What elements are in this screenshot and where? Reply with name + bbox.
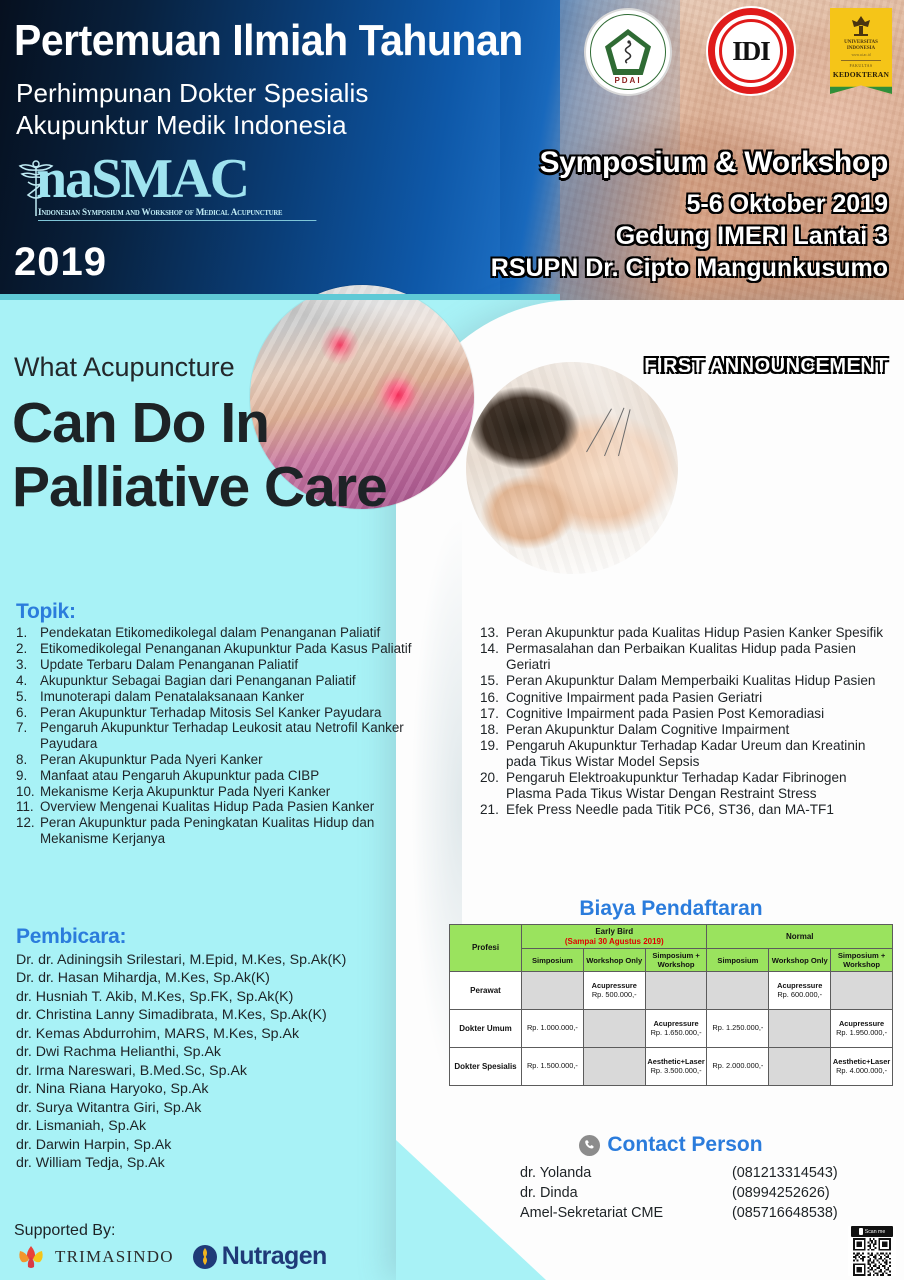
qr-label-text: Scan me (865, 1229, 885, 1235)
topic-item: 6.Peran Akupunktur Terhadap Mitosis Sel … (16, 705, 416, 720)
topic-text: Peran Akupunktur pada Kualitas Hidup Pas… (506, 625, 890, 641)
topic-text: Peran Akupunktur pada Peningkatan Kualit… (40, 815, 416, 846)
fees-sub-eb-simposium: Simposium (522, 949, 584, 972)
fees-table-head: Profesi Early Bird (Sampai 30 Agustus 20… (450, 925, 893, 972)
early-bird-note: (Sampai 30 Agustus 2019) (565, 937, 664, 946)
page-title: Pertemuan Ilmiah Tahunan (14, 16, 523, 66)
topic-item: 16.Cognitive Impairment pada Pasien Geri… (480, 690, 890, 706)
topics-column-1: Topik: 1.Pendekatan Etikomedikolegal dal… (16, 600, 416, 847)
organization-line-1: Perhimpunan Dokter Spesialis (16, 78, 369, 110)
nasmac-wordmark: naSMAC (36, 151, 248, 207)
topic-item: 8.Peran Akupunktur Pada Nyeri Kanker (16, 752, 416, 767)
topic-item: 9.Manfaat atau Pengaruh Akupunktur pada … (16, 768, 416, 783)
trimasindo-wordmark: TRIMASINDO (55, 1247, 174, 1267)
ui-url: www.ui.ac.id (851, 53, 870, 57)
topic-item: 12.Peran Akupunktur pada Peningkatan Kua… (16, 815, 416, 846)
theme-kicker: What Acupuncture (14, 352, 235, 383)
topic-number: 3. (16, 657, 40, 672)
topic-number: 17. (480, 706, 506, 722)
pdai-pentagon-inner (611, 35, 645, 69)
contact-phone[interactable]: (085716648538) (732, 1203, 838, 1223)
fees-cell (831, 972, 893, 1010)
topic-item: 11.Overview Mengenai Kualitas Hidup Pada… (16, 799, 416, 814)
pdai-logo: PDAI (584, 8, 672, 96)
fees-cell (707, 972, 769, 1010)
topic-number: 12. (16, 815, 40, 846)
speaker-item: Dr. dr. Adiningsih Srilestari, M.Epid, M… (16, 951, 416, 969)
qr-code-icon (852, 1238, 892, 1276)
fees-cell: Aesthetic+LaserRp. 3.500.000,- (645, 1048, 707, 1086)
theme-title-line2: Palliative Care (12, 456, 387, 520)
topic-text: Pengaruh Elektroakupunktur Terhadap Kada… (506, 770, 890, 802)
fees-cell: AcupressureRp. 1.650.000,- (645, 1010, 707, 1048)
early-bird-label: Early Bird (595, 927, 633, 936)
mobile-icon (859, 1228, 863, 1235)
speaker-item: dr. Irma Nareswari, B.Med.Sc, Sp.Ak (16, 1062, 416, 1080)
fees-col-normal: Normal (707, 925, 893, 949)
topic-text: Pendekatan Etikomedikolegal dalam Penang… (40, 625, 416, 640)
organization-line-2: Akupunktur Medik Indonesia (16, 110, 369, 142)
fees-sub-n-simposium: Simposium (707, 949, 769, 972)
fees-cell (583, 1048, 645, 1086)
topic-number: 16. (480, 690, 506, 706)
nasmac-tagline: Indonesian Symposium and Workshop of Med… (38, 208, 316, 221)
topic-item: 13.Peran Akupunktur pada Kualitas Hidup … (480, 625, 890, 641)
speaker-item: dr. Darwin Harpin, Sp.Ak (16, 1136, 416, 1154)
fees-cell (522, 972, 584, 1010)
fees-cell: Aesthetic+LaserRp. 4.000.000,- (831, 1048, 893, 1086)
topics-list-1: 1.Pendekatan Etikomedikolegal dalam Pena… (16, 625, 416, 846)
topic-item: 21.Efek Press Needle pada Titik PC6, ST3… (480, 802, 890, 818)
fees-title: Biaya Pendaftaran (446, 897, 896, 921)
speaker-item: dr. William Tedja, Sp.Ak (16, 1154, 416, 1172)
lotus-icon (14, 1243, 48, 1271)
facial-acupuncture-photo (466, 362, 678, 574)
topic-item: 19.Pengaruh Akupunktur Terhadap Kadar Ur… (480, 738, 890, 770)
topic-number: 10. (16, 784, 40, 799)
contact-name: dr. Yolanda (520, 1163, 732, 1183)
topic-text: Pengaruh Akupunktur Terhadap Kadar Ureum… (506, 738, 890, 770)
table-row: Dokter UmumRp. 1.000.000,-AcupressureRp.… (450, 1010, 893, 1048)
idi-abbr: IDI (732, 36, 770, 67)
fees-cell: Rp. 1.250.000,- (707, 1010, 769, 1048)
contact-list: dr. Yolanda(081213314543)dr. Dinda(08994… (520, 1163, 838, 1223)
topic-number: 11. (16, 799, 40, 814)
pdai-snake-icon (621, 40, 635, 64)
speakers-heading: Pembicara: (16, 925, 416, 949)
topic-text: Overview Mengenai Kualitas Hidup Pada Pa… (40, 799, 416, 814)
topic-text: Cognitive Impairment pada Pasien Geriatr… (506, 690, 890, 706)
topic-text: Efek Press Needle pada Titik PC6, ST36, … (506, 802, 890, 818)
topic-item: 18.Peran Akupunktur Dalam Cognitive Impa… (480, 722, 890, 738)
fees-cell: AcupressureRp. 1.950.000,- (831, 1010, 893, 1048)
topics-list-2: 13.Peran Akupunktur pada Kualitas Hidup … (480, 625, 890, 818)
fees-profession-cell: Perawat (450, 972, 522, 1010)
speaker-item: dr. Kemas Abdurrohim, MARS, M.Kes, Sp.Ak (16, 1025, 416, 1043)
fees-cell-note: Perawat (451, 986, 520, 996)
event-venue-line1: Gedung IMERI Lantai 3 (491, 220, 888, 252)
fees-cell-amount: Rp. 1.650.000,- (647, 1029, 706, 1038)
fees-cell-amount: Rp. 1.250.000,- (708, 1024, 767, 1033)
topic-item: 7.Pengaruh Akupunktur Terhadap Leukosit … (16, 720, 416, 751)
topic-number: 5. (16, 689, 40, 704)
first-announcement-badge: FIRST ANNOUNCEMENT (644, 355, 888, 378)
contact-row: dr. Dinda(08994252626) (520, 1183, 838, 1203)
topic-item: 14.Permasalahan dan Perbaikan Kualitas H… (480, 641, 890, 673)
fees-cell-note: Dokter Umum (451, 1024, 520, 1034)
contact-phone[interactable]: (08994252626) (732, 1183, 830, 1203)
poster-root: Pertemuan Ilmiah Tahunan Perhimpunan Dok… (0, 0, 904, 1280)
fees-cell: AcupressureRp. 600.000,- (769, 972, 831, 1010)
topic-item: 15.Peran Akupunktur Dalam Memperbaiki Ku… (480, 673, 890, 689)
idi-logo: IDI (708, 8, 794, 94)
trimasindo-logo: TRIMASINDO (14, 1243, 174, 1271)
topic-text: Peran Akupunktur Dalam Memperbaiki Kuali… (506, 673, 890, 689)
fees-cell (583, 1010, 645, 1048)
fees-cell-amount: Rp. 1.500.000,- (523, 1062, 582, 1071)
event-date: 5-6 Oktober 2019 (491, 188, 888, 220)
topic-text: Permasalahan dan Perbaikan Kualitas Hidu… (506, 641, 890, 673)
speaker-item: dr. Lismaniah, Sp.Ak (16, 1117, 416, 1135)
fees-cell-amount: Rp. 1.950.000,- (832, 1029, 891, 1038)
pdai-abbr: PDAI (586, 76, 670, 85)
speaker-item: Dr. dr. Hasan Mihardja, M.Kes, Sp.Ak(K) (16, 969, 416, 987)
topic-text: Peran Akupunktur Dalam Cognitive Impairm… (506, 722, 890, 738)
fees-header-row-1: Profesi Early Bird (Sampai 30 Agustus 20… (450, 925, 893, 949)
nutragen-wordmark: Nutragen (222, 1242, 327, 1271)
fees-cell-amount: Rp. 4.000.000,- (832, 1067, 891, 1076)
topic-text: Peran Akupunktur Terhadap Mitosis Sel Ka… (40, 705, 416, 720)
fees-cell-note: Dokter Spesialis (451, 1062, 520, 1072)
symposium-label: Symposium & Workshop (491, 146, 888, 180)
speaker-item: dr. Husniah T. Akib, M.Kes, Sp.FK, Sp.Ak… (16, 988, 416, 1006)
event-year: 2019 (14, 240, 107, 285)
topic-text: Manfaat atau Pengaruh Akupunktur pada CI… (40, 768, 416, 783)
event-venue-line2: RSUPN Dr. Cipto Mangunkusumo (491, 252, 888, 284)
fees-cell: Rp. 2.000.000,- (707, 1048, 769, 1086)
qr-scan-label: Scan me (851, 1226, 893, 1237)
topic-item: 17.Cognitive Impairment pada Pasien Post… (480, 706, 890, 722)
speaker-item: dr. Christina Lanny Simadibrata, M.Kes, … (16, 1006, 416, 1024)
header-teal-divider (0, 294, 560, 300)
ui-divider (841, 60, 881, 61)
fees-cell-amount: Rp. 500.000,- (585, 991, 644, 1000)
fees-cell: Rp. 1.000.000,- (522, 1010, 584, 1048)
topic-number: 8. (16, 752, 40, 767)
event-details: Symposium & Workshop 5-6 Oktober 2019 Ge… (491, 146, 888, 284)
topic-item: 3.Update Terbaru Dalam Penanganan Paliat… (16, 657, 416, 672)
topic-text: Akupunktur Sebagai Bagian dari Penangana… (40, 673, 416, 688)
fees-table: Profesi Early Bird (Sampai 30 Agustus 20… (449, 924, 893, 1086)
makara-icon (848, 15, 874, 37)
topic-text: Pengaruh Akupunktur Terhadap Leukosit at… (40, 720, 416, 751)
fees-col-profesi: Profesi (450, 925, 522, 972)
topic-text: Update Terbaru Dalam Penanganan Paliatif (40, 657, 416, 672)
speaker-item: dr. Nina Riana Haryoko, Sp.Ak (16, 1080, 416, 1098)
topic-number: 1. (16, 625, 40, 640)
speaker-item: dr. Surya Witantra Giri, Sp.Ak (16, 1099, 416, 1117)
topic-number: 15. (480, 673, 506, 689)
organization-subtitle: Perhimpunan Dokter Spesialis Akupunktur … (16, 78, 369, 141)
fees-sub-n-combo: Simposium + Workshop (831, 949, 893, 972)
topic-number: 20. (480, 770, 506, 802)
topic-number: 7. (16, 720, 40, 751)
poster-header: Pertemuan Ilmiah Tahunan Perhimpunan Dok… (0, 0, 904, 300)
fees-col-early-bird: Early Bird (Sampai 30 Agustus 2019) (522, 925, 707, 949)
contact-phone[interactable]: (081213314543) (732, 1163, 838, 1183)
ui-name: UNIVERSITAS INDONESIA (844, 40, 878, 52)
idi-inner-ring: IDI (719, 19, 783, 83)
ui-green-band (830, 82, 892, 94)
ui-kedokteran-logo: UNIVERSITAS INDONESIA www.ui.ac.id FAKUL… (830, 8, 892, 94)
topic-number: 2. (16, 641, 40, 656)
topic-number: 6. (16, 705, 40, 720)
topic-text: Peran Akupunktur Pada Nyeri Kanker (40, 752, 416, 767)
speakers-section: Pembicara: Dr. dr. Adiningsih Srilestari… (16, 925, 416, 1172)
fees-sub-eb-combo: Simposium + Workshop (645, 949, 707, 972)
fees-cell-amount: Rp. 2.000.000,- (708, 1062, 767, 1071)
phone-glyph (584, 1139, 596, 1151)
speakers-list: Dr. dr. Adiningsih Srilestari, M.Epid, M… (16, 951, 416, 1172)
fees-cell-amount: Rp. 1.000.000,- (523, 1024, 582, 1033)
fees-cell-amount: Rp. 600.000,- (770, 991, 829, 1000)
contact-name: Amel-Sekretariat CME (520, 1203, 732, 1223)
fees-cell: AcupressureRp. 500.000,- (583, 972, 645, 1010)
contact-title: Contact Person (607, 1133, 762, 1157)
fees-cell (645, 972, 707, 1010)
fees-table-body: PerawatAcupressureRp. 500.000,-Acupressu… (450, 972, 893, 1086)
contact-name: dr. Dinda (520, 1183, 732, 1203)
phone-icon (579, 1135, 600, 1156)
theme-title: Can Do In Palliative Care (12, 392, 387, 520)
wheat-circle-icon (192, 1244, 218, 1270)
fees-cell (769, 1010, 831, 1048)
topic-text: Cognitive Impairment pada Pasien Post Ke… (506, 706, 890, 722)
topic-number: 21. (480, 802, 506, 818)
sponsor-logos: TRIMASINDO Nutragen (14, 1242, 327, 1271)
topic-item: 4.Akupunktur Sebagai Bagian dari Penanga… (16, 673, 416, 688)
contact-row: Amel-Sekretariat CME(085716648538) (520, 1203, 838, 1223)
table-row: Dokter SpesialisRp. 1.500.000,-Aesthetic… (450, 1048, 893, 1086)
topic-text: Mekanisme Kerja Akupunktur Pada Nyeri Ka… (40, 784, 416, 799)
supported-by-label: Supported By: (14, 1222, 115, 1240)
topics-column-2: 13.Peran Akupunktur pada Kualitas Hidup … (480, 625, 890, 819)
ui-department: KEDOKTERAN (833, 70, 889, 79)
speaker-item: dr. Dwi Rachma Helianthi, Sp.Ak (16, 1043, 416, 1061)
topic-number: 14. (480, 641, 506, 673)
fees-cell-amount: Rp. 3.500.000,- (647, 1067, 706, 1076)
topic-number: 18. (480, 722, 506, 738)
topic-number: 4. (16, 673, 40, 688)
ui-line1: UNIVERSITAS (844, 40, 878, 45)
partner-logos: PDAI IDI UNIVERSITAS INDONESIA www.ui.ac… (584, 8, 892, 96)
fees-sub-eb-workshop: Workshop Only (583, 949, 645, 972)
topic-item: 20.Pengaruh Elektroakupunktur Terhadap K… (480, 770, 890, 802)
fees-cell (769, 1048, 831, 1086)
topic-number: 19. (480, 738, 506, 770)
qr-code-block[interactable]: Scan me (848, 1226, 896, 1276)
topic-number: 9. (16, 768, 40, 783)
topic-text: Etikomedikolegal Penanganan Akupunktur P… (40, 641, 416, 656)
fees-profession-cell: Dokter Spesialis (450, 1048, 522, 1086)
topics-heading: Topik: (16, 600, 416, 624)
contact-row: dr. Yolanda(081213314543) (520, 1163, 838, 1183)
fees-cell: Rp. 1.500.000,- (522, 1048, 584, 1086)
topic-number: 13. (480, 625, 506, 641)
ui-fakultas-label: FAKULTAS (849, 63, 872, 68)
theme-title-line1: Can Do In (12, 392, 387, 456)
fees-profession-cell: Dokter Umum (450, 1010, 522, 1048)
ui-line2: INDONESIA (847, 46, 875, 51)
fees-sub-n-workshop: Workshop Only (769, 949, 831, 972)
topic-text: Imunoterapi dalam Penatalaksanaan Kanker (40, 689, 416, 704)
topic-item: 5.Imunoterapi dalam Penatalaksanaan Kank… (16, 689, 416, 704)
nutragen-logo: Nutragen (192, 1242, 327, 1271)
contact-header: Contact Person (446, 1133, 896, 1157)
topic-item: 1.Pendekatan Etikomedikolegal dalam Pena… (16, 625, 416, 640)
topic-item: 10.Mekanisme Kerja Akupunktur Pada Nyeri… (16, 784, 416, 799)
topic-item: 2.Etikomedikolegal Penanganan Akupunktur… (16, 641, 416, 656)
table-row: PerawatAcupressureRp. 500.000,-Acupressu… (450, 972, 893, 1010)
